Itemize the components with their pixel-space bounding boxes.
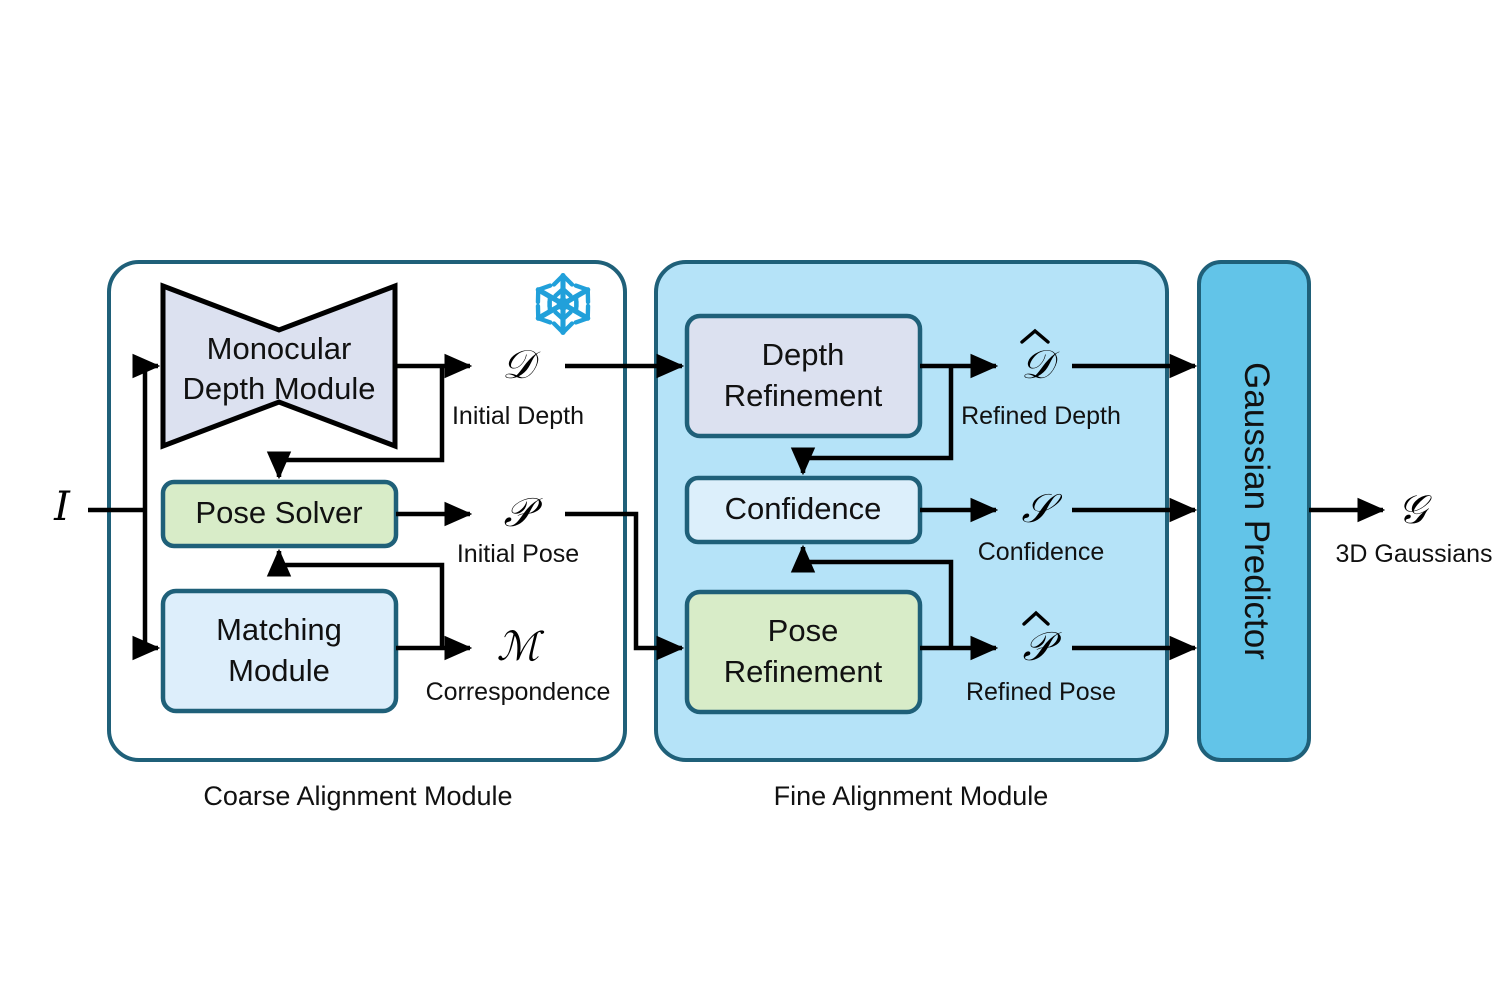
gaussians-symbol: 𝒢 (1398, 487, 1433, 533)
initial-pose-caption: Initial Pose (457, 540, 579, 568)
refined-pose-caption: Refined Pose (966, 678, 1116, 706)
pose-refinement-line1: Pose (768, 613, 839, 648)
correspondence-symbol: ℳ (497, 624, 545, 670)
input-symbol: I (53, 484, 71, 530)
monocular-depth-module-line2: Depth Module (182, 371, 375, 406)
coarse-alignment-module-caption: Coarse Alignment Module (203, 781, 512, 811)
matching-module[interactable] (163, 591, 396, 711)
matching-module-line1: Matching (216, 612, 342, 647)
confidence-caption: Confidence (978, 538, 1104, 566)
initial-depth-caption: Initial Depth (452, 402, 584, 430)
depth-refinement-line1: Depth (762, 337, 845, 372)
fine-alignment-module-caption: Fine Alignment Module (774, 781, 1049, 811)
depth-refinement-line2: Refinement (724, 378, 883, 413)
architecture-diagram: Monocular Depth Module Pose Solver Match… (0, 0, 1500, 1000)
depth-refinement[interactable] (687, 316, 920, 436)
diagram-canvas: Monocular Depth Module Pose Solver Match… (0, 0, 1500, 1000)
pose-refinement[interactable] (687, 592, 920, 712)
pose-refinement-line2: Refinement (724, 654, 883, 689)
correspondence-caption: Correspondence (426, 678, 611, 706)
monocular-depth-module-line1: Monocular (207, 331, 352, 366)
matching-module-line2: Module (228, 653, 330, 688)
refined-depth-caption: Refined Depth (961, 402, 1121, 430)
gaussian-predictor-label: Gaussian Predictor (1237, 362, 1276, 660)
pose-solver-label: Pose Solver (195, 495, 362, 530)
gaussians-caption: 3D Gaussians (1335, 540, 1492, 568)
confidence-block-label: Confidence (725, 491, 882, 526)
